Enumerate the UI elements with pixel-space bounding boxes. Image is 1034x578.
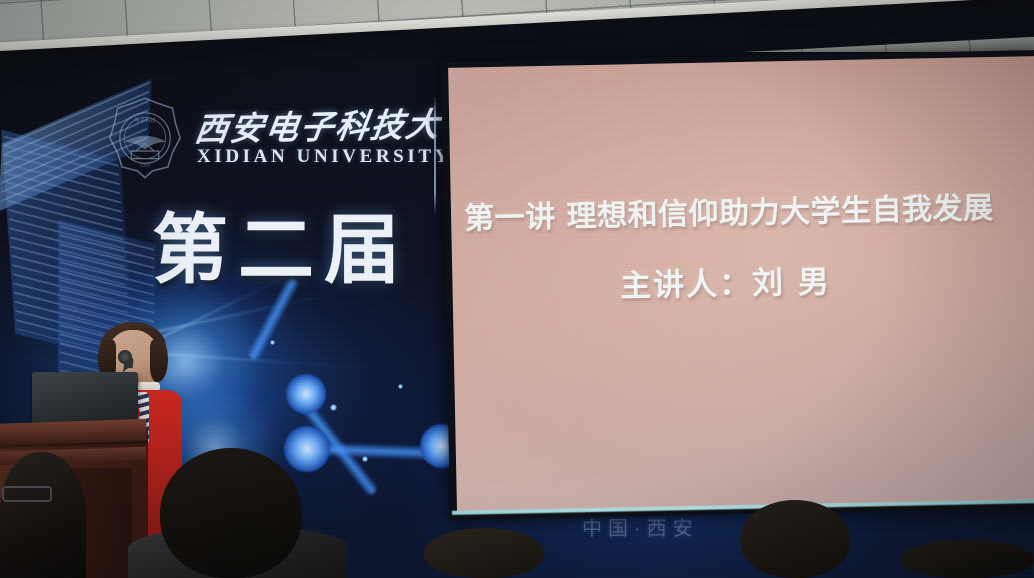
xidian-university-seal-icon: 1931 电子科技 <box>106 96 184 180</box>
audience-glasses <box>2 486 52 502</box>
backdrop-molecule-node-2 <box>284 426 330 472</box>
projection-screen: 第一讲 理想和信仰助力大学生自我发展 主讲人：刘 男 <box>441 50 1034 520</box>
audience-head-right <box>900 540 1034 578</box>
backdrop-headline: 第二届 <box>152 212 410 288</box>
backdrop-molecule-node <box>286 374 326 414</box>
university-name-cn: 西安电子科技大学 <box>192 97 479 151</box>
audience-head-center-left <box>160 448 302 578</box>
audience-head-center <box>424 528 544 578</box>
audience-head-center-right <box>740 500 850 578</box>
backdrop-spark-2 <box>362 456 368 462</box>
university-name-en: XIDIAN UNIVERSITY <box>197 146 452 168</box>
audience-head-left-front <box>0 452 86 578</box>
microphone-head <box>118 350 132 364</box>
backdrop-spark-3 <box>398 384 403 389</box>
lecture-hall-photo: Lux <box>0 0 1034 578</box>
logo-divider <box>434 96 436 214</box>
backdrop-spark <box>330 404 337 411</box>
svg-text:1931: 1931 <box>140 162 151 168</box>
backdrop-spark-6 <box>270 340 275 345</box>
